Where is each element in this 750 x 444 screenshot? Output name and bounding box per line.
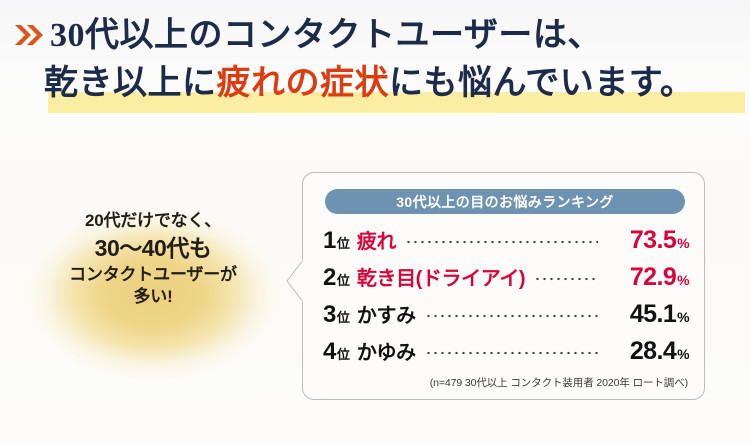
row-value-number: 28.4 <box>630 337 676 365</box>
rank-unit: 位 <box>337 344 350 363</box>
row-value: 28.4% <box>605 337 689 366</box>
table-row: 1 位 疲れ 73.5% <box>323 225 689 262</box>
headline: 30代以上のコンタクトユーザーは、 乾き以上に疲れの症状にも悩んでいます。 <box>0 14 750 106</box>
row-value-unit: % <box>677 235 689 251</box>
rank-number: 1 <box>323 227 336 255</box>
row-value-number: 73.5 <box>630 226 676 254</box>
row-value-unit: % <box>677 272 689 288</box>
headline-line-2-suffix: にも悩んでいます。 <box>389 65 694 102</box>
table-row: 2 位 乾き目(ドライアイ) 72.9% <box>323 262 689 299</box>
rank-unit: 位 <box>337 307 350 326</box>
table-row: 3 位 かすみ 45.1% <box>323 299 689 336</box>
row-label: かゆみ <box>357 336 416 365</box>
leader-dots <box>425 314 598 318</box>
row-label: 乾き目(ドライアイ) <box>357 262 525 291</box>
headline-line-1-text: 30代以上のコンタクトユーザーは、 <box>50 17 602 54</box>
leader-dots <box>405 240 598 244</box>
row-value: 73.5% <box>605 226 689 255</box>
infographic-canvas: 30代以上のコンタクトユーザーは、 乾き以上に疲れの症状にも悩んでいます。 20… <box>0 0 750 444</box>
headline-line-1: 30代以上のコンタクトユーザーは、 <box>0 14 750 58</box>
row-value-unit: % <box>677 309 689 325</box>
ranking-card-banner: 30代以上の目のお悩みランキング <box>325 189 685 214</box>
rank-number: 3 <box>323 301 336 329</box>
double-chevron-right-icon <box>14 22 44 48</box>
row-value: 72.9% <box>605 263 689 292</box>
row-value-unit: % <box>677 346 689 362</box>
callout-text: 20代だけでなく、 30〜40代も コンタクトユーザーが 多い! <box>8 210 298 309</box>
row-value-number: 72.9 <box>630 263 676 291</box>
ranking-card: 30代以上の目のお悩みランキング 1 位 疲れ 73.5% 2 位 乾き目(ドラ… <box>302 172 705 400</box>
row-value: 45.1% <box>605 300 689 329</box>
speech-bubble-tail <box>286 259 304 303</box>
ranking-card-title: 30代以上の目のお悩みランキング <box>396 192 614 212</box>
rank-unit: 位 <box>337 270 350 289</box>
callout-line-4: 多い! <box>8 286 298 309</box>
row-label: 疲れ <box>357 225 396 254</box>
callout-line-2: 30〜40代も <box>8 233 298 264</box>
leader-dots <box>425 351 598 355</box>
rank-unit: 位 <box>337 233 350 252</box>
headline-line-2-prefix: 乾き以上に <box>44 65 217 102</box>
rank-number: 4 <box>323 338 336 366</box>
callout-line-3: コンタクトユーザーが <box>8 264 298 287</box>
source-footnote: (n=479 30代以上 コンタクト装用者 2020年 ロート調べ) <box>303 375 688 390</box>
callout-line-1: 20代だけでなく、 <box>8 210 298 233</box>
headline-line-2: 乾き以上に疲れの症状にも悩んでいます。 <box>0 62 750 106</box>
row-label: かすみ <box>357 299 416 328</box>
rank-number: 2 <box>323 264 336 292</box>
headline-highlight-text: 疲れの症状 <box>217 65 390 102</box>
ranking-list: 1 位 疲れ 73.5% 2 位 乾き目(ドライアイ) 72.9% 3 位 かす… <box>323 225 689 373</box>
leader-dots <box>534 277 598 281</box>
table-row: 4 位 かゆみ 28.4% <box>323 336 689 373</box>
row-value-number: 45.1 <box>630 300 676 328</box>
